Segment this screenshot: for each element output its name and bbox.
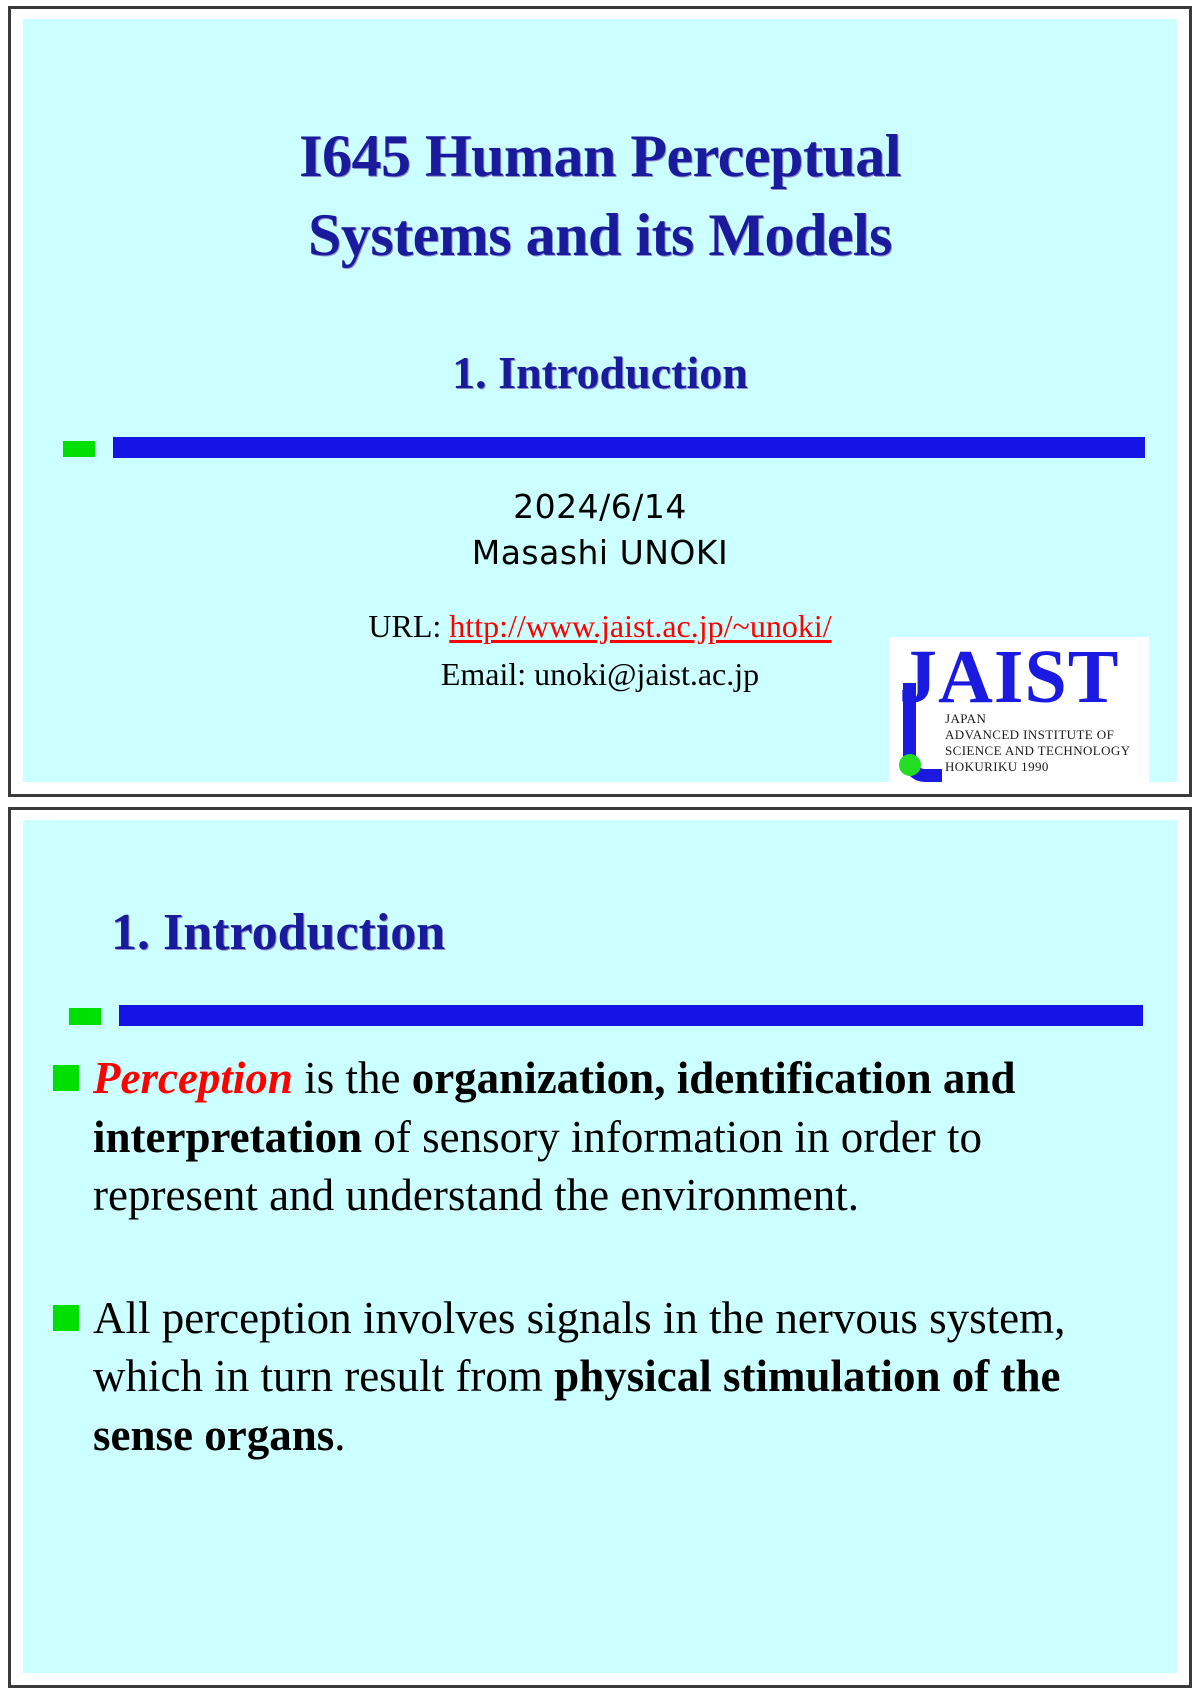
jaist-logo-line2: ADVANCED INSTITUTE OF <box>945 727 1114 742</box>
green-square-icon <box>63 441 95 457</box>
jaist-logo: JAIST JAPAN ADVANCED INSTITUTE OF SCIENC… <box>889 637 1149 782</box>
section-heading: 1. Introduction <box>53 887 1147 962</box>
section-divider <box>53 1005 1147 1027</box>
presentation-title-line1: I645 Human Perceptual <box>299 123 901 189</box>
slide-deck-page: I645 Human Perceptual Systems and its Mo… <box>0 0 1200 1696</box>
content-slide-canvas: 1. Introduction Perception is the organi… <box>23 820 1177 1673</box>
jaist-logo-text: JAPAN ADVANCED INSTITUTE OF SCIENCE AND … <box>945 711 1131 774</box>
content-slide: 1. Introduction Perception is the organi… <box>8 807 1192 1688</box>
list-item: All perception involves signals in the n… <box>53 1289 1147 1465</box>
title-divider <box>23 437 1177 459</box>
green-square-bullet-icon <box>53 1305 79 1331</box>
bullet-list: Perception is the organization, identifi… <box>53 1049 1147 1464</box>
jaist-green-dot-icon <box>899 754 921 776</box>
presentation-subtitle: 1. Introduction <box>23 346 1177 399</box>
presentation-meta: 2024/6/14 Masashi UNOKI <box>23 485 1177 576</box>
text-run: is the <box>293 1053 412 1103</box>
green-square-icon <box>69 1008 101 1025</box>
jaist-logo-line3: SCIENCE AND TECHNOLOGY <box>945 743 1131 758</box>
title-slide-canvas: I645 Human Perceptual Systems and its Mo… <box>23 19 1177 782</box>
website-link[interactable]: http://www.jaist.ac.jp/~unoki/ <box>449 608 831 644</box>
presentation-author: Masashi UNOKI <box>23 531 1177 576</box>
blue-bar-divider <box>119 1005 1143 1026</box>
url-label: URL: <box>368 608 441 644</box>
jaist-logo-line1: JAPAN <box>945 711 986 726</box>
emphasis-term: Perception <box>93 1053 293 1103</box>
green-square-bullet-icon <box>53 1065 79 1091</box>
jaist-logo-line4: HOKURIKU 1990 <box>945 759 1049 774</box>
presentation-title: I645 Human Perceptual Systems and its Mo… <box>23 59 1177 275</box>
list-item-text: All perception involves signals in the n… <box>93 1289 1147 1465</box>
text-run: . <box>334 1410 345 1460</box>
blue-bar-divider <box>113 437 1145 458</box>
title-slide: I645 Human Perceptual Systems and its Mo… <box>8 6 1192 797</box>
list-item: Perception is the organization, identifi… <box>53 1049 1147 1225</box>
presentation-title-line2: Systems and its Models <box>23 196 1177 275</box>
list-item-text: Perception is the organization, identifi… <box>93 1049 1147 1225</box>
presentation-date: 2024/6/14 <box>23 485 1177 530</box>
